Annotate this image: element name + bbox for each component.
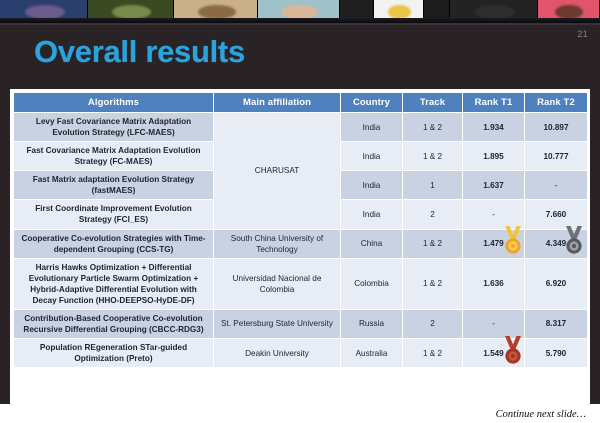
video-tile[interactable] [450,0,538,18]
rank-t2-value: 5.790 [546,348,567,359]
silver-medal-icon [561,225,587,255]
cell-affiliation-merged: CHARUSAT [214,113,341,230]
video-tile[interactable] [538,0,600,18]
table-header-row: Algorithms Main affiliation Country Trac… [14,93,588,113]
rank-t2-value: 8.317 [546,318,567,329]
participant-silhouette [25,5,65,18]
video-tile[interactable] [174,0,258,18]
results-table-body: Levy Fast Covariance Matrix Adaptation E… [14,113,588,368]
page-title: Overall results [34,34,245,70]
cell-affiliation: St. Petersburg State University [214,309,341,338]
cell-track: 1 & 2 [403,339,463,368]
cell-algorithm: Harris Hawks Optimization + Differential… [14,258,214,309]
cell-track: 1 & 2 [403,113,463,142]
cell-rank-t1: 1.549 [463,339,525,368]
cell-rank-t1: 1.895 [463,142,525,171]
rank-t1-value: 1.636 [483,278,504,289]
cell-algorithm: Fast Covariance Matrix Adaptation Evolut… [14,142,214,171]
column-header-rank-t2[interactable]: Rank T2 [525,93,588,113]
cell-track: 1 [403,171,463,200]
cell-algorithm: First Coordinate Improvement Evolution S… [14,200,214,229]
cell-country: India [341,142,403,171]
column-header-algorithms[interactable]: Algorithms [14,93,214,113]
cell-algorithm: Fast Matrix adaptation Evolution Strateg… [14,171,214,200]
rank-t2-value: 10.897 [543,122,568,133]
cell-country: Colombia [341,258,403,309]
column-header-country[interactable]: Country [341,93,403,113]
cell-country: Australia [341,339,403,368]
participant-silhouette [475,5,515,18]
video-tile[interactable] [88,0,174,18]
rank-t1-value: 1.895 [483,151,504,162]
video-tile[interactable] [258,0,340,18]
rank-t1-value: 1.637 [483,180,504,191]
cell-track: 1 & 2 [403,229,463,258]
rank-t1-value: 1.479 [483,238,504,249]
rank-t2-value: 6.920 [546,278,567,289]
cell-country: China [341,229,403,258]
cell-rank-t2: 5.790 [525,339,588,368]
rank-t2-value: 4.349 [546,238,567,249]
participant-silhouette [112,5,151,18]
cell-rank-t2: 10.777 [525,142,588,171]
cell-affiliation: Universidad Nacional de Colombia [214,258,341,309]
cell-rank-t2: 10.897 [525,113,588,142]
rank-t1-value: 1.934 [483,122,504,133]
bronze-medal-icon [500,335,526,365]
rank-t2-value: 7.660 [546,209,567,220]
participant-silhouette [198,5,236,18]
participant-silhouette [350,5,365,18]
cell-affiliation: Deakin University [214,339,341,368]
cell-rank-t2: 7.660 [525,200,588,229]
cell-rank-t2: 8.317 [525,309,588,338]
cell-track: 2 [403,200,463,229]
rank-t1-value: - [492,209,495,220]
cell-track: 1 & 2 [403,258,463,309]
participant-silhouette [431,5,443,18]
slide-top-edge [0,23,600,25]
table-row[interactable]: Cooperative Co-evolution Strategies with… [14,229,588,258]
cell-rank-t1: 1.934 [463,113,525,142]
cell-track: 1 & 2 [403,142,463,171]
column-header-track[interactable]: Track [403,93,463,113]
participant-silhouette [388,5,411,18]
results-table-container: Algorithms Main affiliation Country Trac… [10,89,590,407]
cell-algorithm: Population REgeneration STar-guided Opti… [14,339,214,368]
table-row[interactable]: Contribution-Based Cooperative Co-evolut… [14,309,588,338]
table-row[interactable]: Harris Hawks Optimization + Differential… [14,258,588,309]
slide-page-number: 21 [577,29,588,39]
cell-rank-t1: 1.637 [463,171,525,200]
cell-track: 2 [403,309,463,338]
table-row[interactable]: Population REgeneration STar-guided Opti… [14,339,588,368]
rank-t2-value: - [555,180,558,191]
cell-rank-t2: 6.920 [525,258,588,309]
rank-t1-value: 1.549 [483,348,504,359]
cell-algorithm: Levy Fast Covariance Matrix Adaptation E… [14,113,214,142]
gold-medal-icon [500,225,526,255]
results-table: Algorithms Main affiliation Country Trac… [13,92,588,368]
cell-rank-t1: - [463,200,525,229]
continue-caption: Continue next slide… [496,409,586,420]
presentation-slide: 21 Overall results Algorithms Main affil… [0,23,600,423]
cell-country: India [341,171,403,200]
cell-rank-t1: 1.479 [463,229,525,258]
video-tile[interactable] [374,0,424,18]
cell-algorithm: Contribution-Based Cooperative Co-evolut… [14,309,214,338]
cell-algorithm: Cooperative Co-evolution Strategies with… [14,229,214,258]
cell-rank-t2: - [525,171,588,200]
cell-country: Russia [341,309,403,338]
cell-country: India [341,200,403,229]
participant-silhouette [281,5,318,18]
rank-t2-value: 10.777 [543,151,568,162]
video-tile[interactable] [0,0,88,18]
cell-rank-t1: - [463,309,525,338]
cell-country: India [341,113,403,142]
participant-silhouette [555,5,583,18]
column-header-affiliation[interactable]: Main affiliation [214,93,341,113]
cell-rank-t1: 1.636 [463,258,525,309]
cell-affiliation: South China University of Technology [214,229,341,258]
video-tile[interactable] [340,0,374,18]
cell-rank-t2: 4.349 [525,229,588,258]
video-tile[interactable] [424,0,450,18]
video-participant-strip[interactable] [0,0,600,18]
rank-t1-value: - [492,318,495,329]
table-row[interactable]: Levy Fast Covariance Matrix Adaptation E… [14,113,588,142]
column-header-rank-t1[interactable]: Rank T1 [463,93,525,113]
